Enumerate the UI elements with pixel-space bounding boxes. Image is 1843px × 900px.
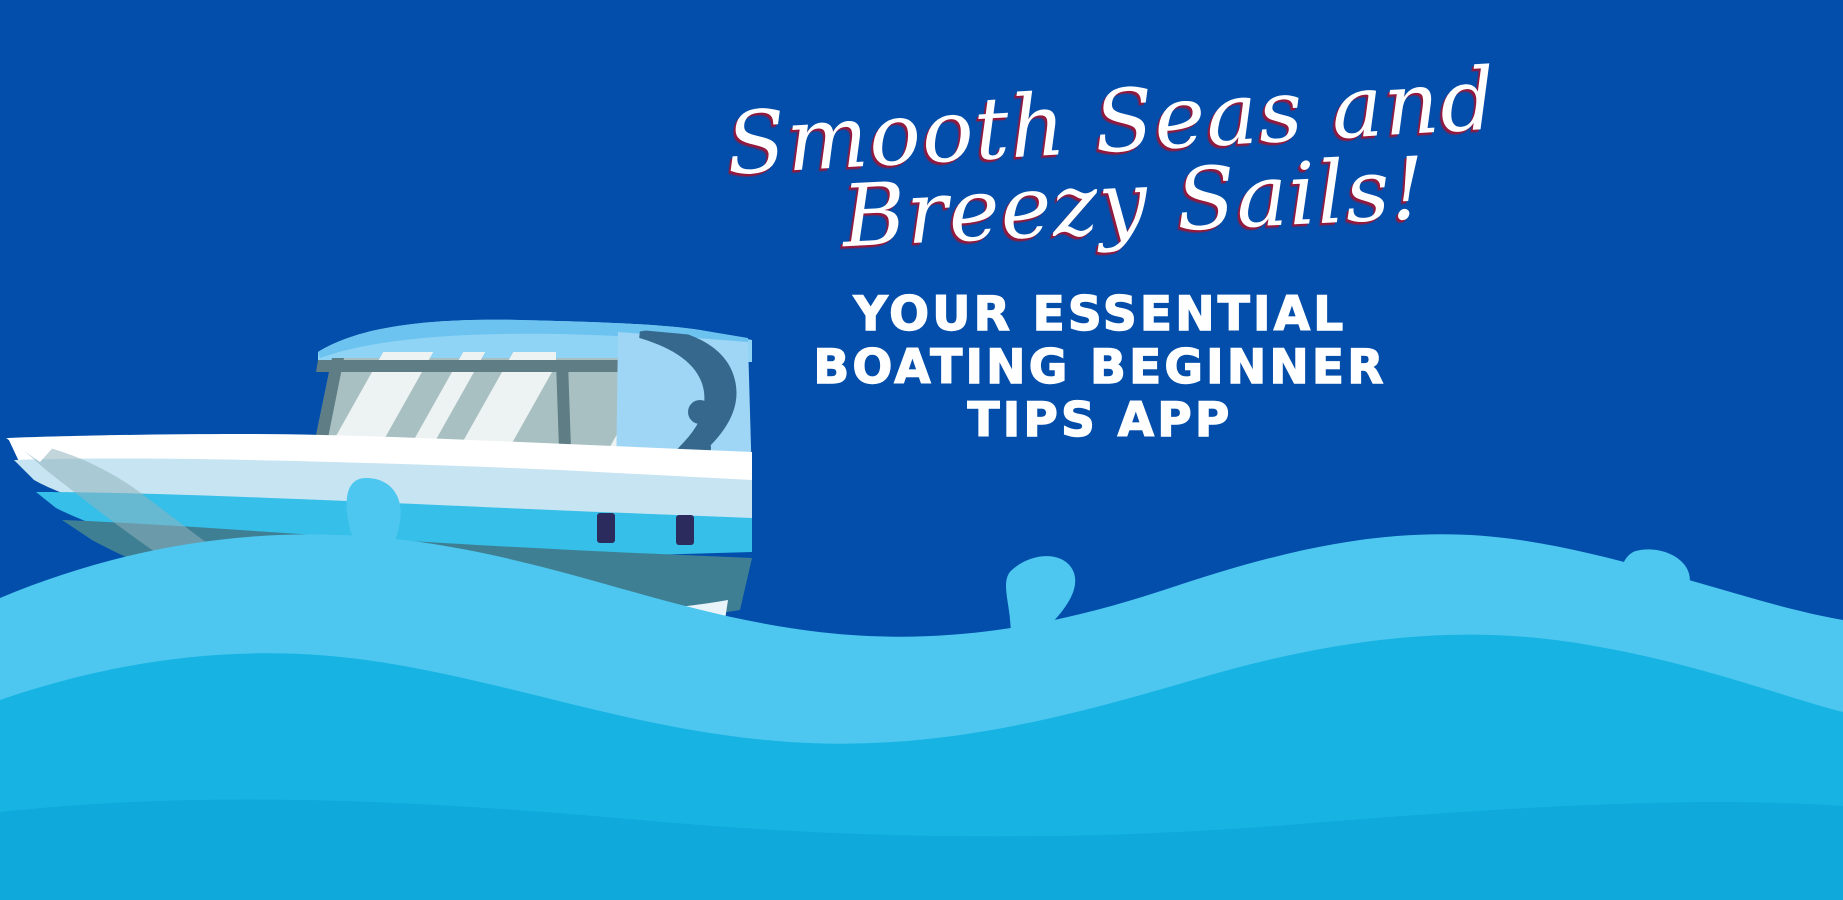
droplet-left xyxy=(993,550,1089,661)
banner-canvas: Smooth Seas and Breezy Sails! YOUR ESSEN… xyxy=(0,0,1843,900)
droplet-layer xyxy=(0,0,1843,900)
droplet-right xyxy=(1593,538,1697,654)
